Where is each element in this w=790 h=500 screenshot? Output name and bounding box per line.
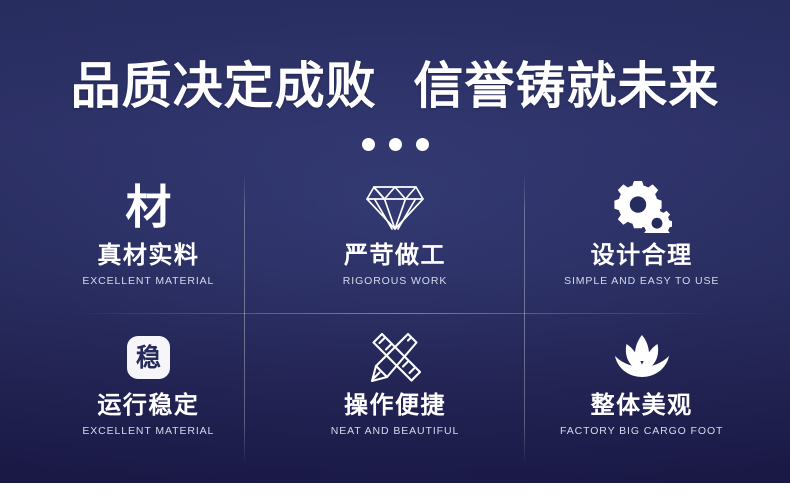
feature-subtitle: NEAT AND BEAUTIFUL	[331, 425, 459, 437]
pencil-ruler-icon	[367, 331, 423, 383]
feature-subtitle: SIMPLE AND EASY TO USE	[564, 275, 719, 287]
bottom-white-strip	[0, 483, 790, 500]
feature-subtitle: EXCELLENT MATERIAL	[82, 275, 214, 287]
feature-cell-overall-beauty: 整体美观 FACTORY BIG CARGO FOOT	[518, 318, 765, 468]
feature-subtitle: RIGOROUS WORK	[343, 275, 447, 287]
feature-title: 设计合理	[591, 242, 693, 268]
feature-grid: 材 真材实料 EXCELLENT MATERIAL	[25, 168, 765, 468]
page-title: 品质决定成败 信誉铸就未来	[0, 61, 790, 111]
separator-dot	[362, 138, 375, 151]
feature-title: 严苛做工	[344, 242, 446, 268]
feature-icon	[613, 326, 671, 388]
promo-banner: 品质决定成败 信誉铸就未来 材 真材实料 EXCELLENT MATERIAL	[0, 0, 790, 483]
separator-dot	[416, 138, 429, 151]
dot-separator	[0, 138, 790, 151]
feature-icon	[366, 176, 424, 238]
feature-cell-easy-operation: 操作便捷 NEAT AND BEAUTIFUL	[272, 318, 519, 468]
lotus-icon	[613, 334, 671, 380]
diamond-icon	[366, 183, 424, 231]
feature-title: 整体美观	[591, 392, 693, 418]
feature-icon: 稳	[127, 326, 170, 388]
badge-wen-icon: 稳	[127, 336, 170, 379]
feature-title: 真材实料	[97, 242, 199, 268]
feature-subtitle: FACTORY BIG CARGO FOOT	[560, 425, 723, 437]
feature-title: 操作便捷	[344, 392, 446, 418]
feature-cell-excellent-material: 材 真材实料 EXCELLENT MATERIAL	[25, 168, 272, 318]
glyph-cai-icon: 材	[125, 184, 171, 230]
feature-title: 运行稳定	[97, 392, 199, 418]
feature-cell-easy-to-use: 设计合理 SIMPLE AND EASY TO USE	[518, 168, 765, 318]
separator-dot	[389, 138, 402, 151]
feature-subtitle: EXCELLENT MATERIAL	[82, 425, 214, 437]
feature-icon: 材	[125, 176, 171, 238]
feature-icon	[367, 326, 423, 388]
feature-cell-stable-operation: 稳 运行稳定 EXCELLENT MATERIAL	[25, 318, 272, 468]
gears-icon	[612, 181, 672, 233]
badge-wen-label: 稳	[136, 345, 161, 370]
feature-icon	[612, 176, 672, 238]
feature-cell-rigorous-work: 严苛做工 RIGOROUS WORK	[272, 168, 519, 318]
